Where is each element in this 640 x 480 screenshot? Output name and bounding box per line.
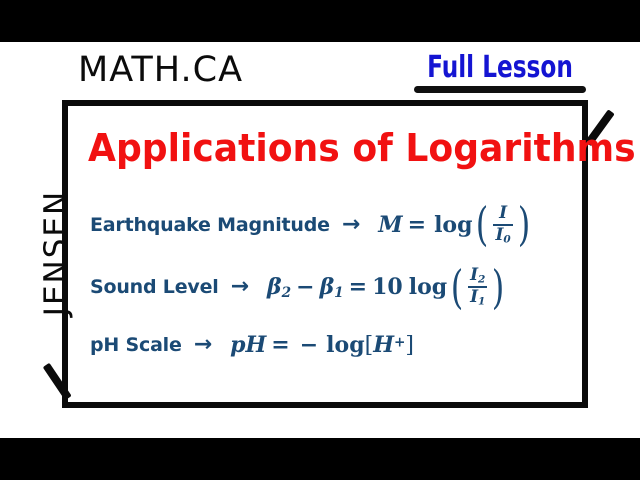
denominator-base: I xyxy=(470,287,478,307)
concentration-argument: H+ xyxy=(373,332,405,358)
minus-sign: − xyxy=(295,332,323,358)
numerator-base: I xyxy=(470,265,478,285)
formula-label: pH Scale xyxy=(90,334,182,356)
beta-subscript-1: 2 xyxy=(282,285,291,301)
fraction: I I0 xyxy=(492,205,513,245)
paren-open: ( xyxy=(475,208,489,241)
log-operator: log xyxy=(431,212,472,238)
formula-expression: M = log ( I I0 ) xyxy=(378,205,533,245)
formula-lhs: M xyxy=(378,212,402,238)
equals-sign: = xyxy=(266,332,294,358)
full-lesson-badge: Full Lesson xyxy=(412,52,588,93)
brand-wordmark-mathca: MATH.CA xyxy=(78,50,243,90)
fraction-numerator: I xyxy=(497,205,509,223)
denominator-subscript: 0 xyxy=(503,233,510,245)
slide-canvas: MATH.CA JENSEN Full Lesson Applications … xyxy=(0,0,640,480)
denominator-subscript: 1 xyxy=(478,295,485,307)
bracket-open: [ xyxy=(365,333,374,358)
formula-lhs: pH xyxy=(230,332,266,358)
formula-label: Sound Level xyxy=(90,276,219,298)
formula-row-sound-level: Sound Level → β2 − β1 = 10 log ( I2 I1 ) xyxy=(90,267,580,307)
formula-row-earthquake-magnitude: Earthquake Magnitude → M = log ( I I0 ) xyxy=(90,205,580,245)
formula-lhs-term-1: β2 xyxy=(267,274,291,301)
letterbox-bar-bottom xyxy=(0,438,640,480)
minus-sign: − xyxy=(291,274,319,300)
paren-open: ( xyxy=(450,271,464,304)
page-title: Applications of Logarithms xyxy=(88,126,540,170)
fraction-denominator: I1 xyxy=(468,289,487,307)
beta-base-2: β xyxy=(320,274,335,300)
bracket-close: ] xyxy=(405,333,414,358)
log-operator: log xyxy=(406,274,447,300)
fraction-numerator: I2 xyxy=(468,267,487,285)
coefficient: 10 xyxy=(372,274,406,300)
numerator-subscript: 2 xyxy=(478,273,485,285)
fraction: I2 I1 xyxy=(467,267,488,307)
equals-sign: = xyxy=(344,274,372,300)
formula-row-ph-scale: pH Scale → pH = − log [ H+ ] xyxy=(90,332,580,358)
letterbox-bar-top xyxy=(0,0,640,42)
formula-label: Earthquake Magnitude xyxy=(90,214,330,236)
equals-sign: = xyxy=(403,212,431,238)
formula-expression: β2 − β1 = 10 log ( I2 I1 ) xyxy=(267,267,508,307)
arrow-right-icon: → xyxy=(330,214,362,236)
log-operator: log xyxy=(323,332,364,358)
argument-base: H xyxy=(373,332,394,358)
full-lesson-label: Full Lesson xyxy=(424,52,575,84)
fraction-denominator: I0 xyxy=(493,227,512,245)
beta-base-1: β xyxy=(267,274,282,300)
arrow-right-icon: → xyxy=(182,334,214,356)
formula-lhs-term-2: β1 xyxy=(320,274,344,301)
paren-close: ) xyxy=(517,208,531,241)
argument-superscript: + xyxy=(394,334,405,350)
beta-subscript-2: 1 xyxy=(334,285,343,301)
full-lesson-underline xyxy=(414,86,586,93)
formula-expression: pH = − log [ H+ ] xyxy=(230,332,414,358)
arrow-right-icon: → xyxy=(219,276,251,298)
paren-close: ) xyxy=(491,271,505,304)
